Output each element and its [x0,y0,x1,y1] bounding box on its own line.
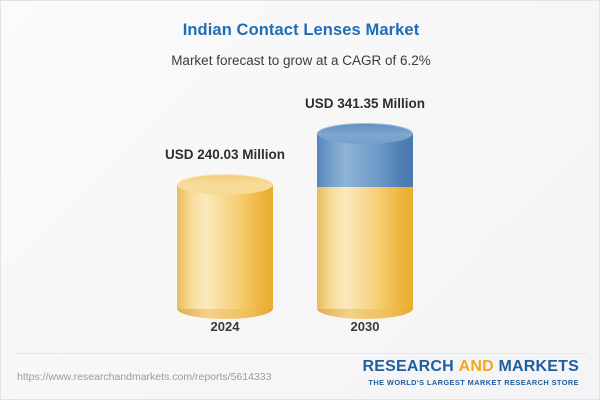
chart-card: Indian Contact Lenses Market Market fore… [0,0,600,400]
bar-cylinder-2030[interactable] [317,123,413,309]
bar-2024-top-ellipse [177,174,273,195]
research-and-markets-logo[interactable]: RESEARCH AND MARKETS THE WORLD'S LARGEST… [363,359,579,386]
bar-2024-body [177,184,273,309]
logo-word-research: RESEARCH [363,358,454,375]
logo-wordmark: RESEARCH AND MARKETS [363,359,579,376]
footer-divider [15,353,587,354]
bar-cylinder-2024[interactable] [177,174,273,309]
source-url[interactable]: https://www.researchandmarkets.com/repor… [17,371,271,383]
bar-value-label-2024: USD 240.03 Million [105,147,345,162]
bar-2030-top-ellipse [317,123,413,144]
logo-tagline: THE WORLD'S LARGEST MARKET RESEARCH STOR… [363,379,579,386]
logo-word-and: AND [454,358,499,375]
bar-2030-base-segment [317,187,413,309]
category-label-2030: 2030 [265,319,465,334]
bar-value-label-2030: USD 341.35 Million [245,96,485,111]
logo-word-markets: MARKETS [498,358,579,375]
chart-plot-area: USD 240.03 Million 2024 USD 341.35 Milli… [1,1,600,353]
